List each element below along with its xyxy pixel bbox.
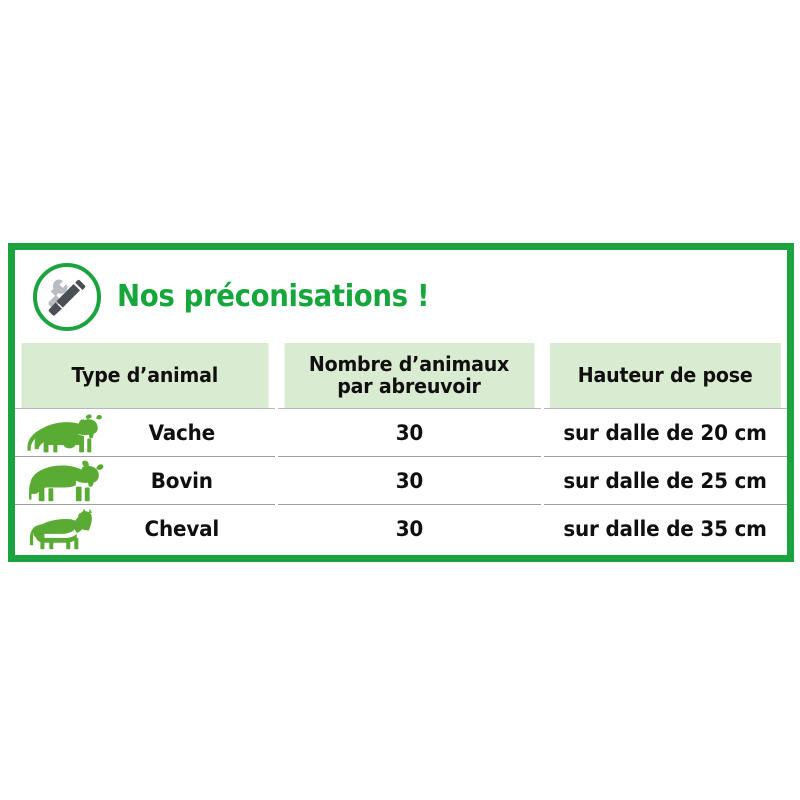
animal-type-label: Cheval: [21, 517, 268, 541]
animal-count-value: 30: [395, 469, 422, 493]
cell-animal-count: 30: [276, 505, 542, 553]
table-row: Vache 30 sur dalle de 20 cm: [15, 409, 787, 457]
column-header-hauteur-pose: Hauteur de pose: [548, 343, 781, 409]
cell-animal-type: Vache: [15, 409, 276, 457]
cell-animal-count: 30: [276, 409, 542, 457]
tools-wrench-screwdriver-icon: [33, 263, 101, 331]
page-root: Nos préconisations ! Type d’animal Nombr…: [0, 0, 800, 800]
tools-glyph: [44, 274, 90, 320]
mounting-height-value: sur dalle de 20 cm: [564, 421, 767, 445]
table-header-row: Type d’animal Nombre d’animaux par abreu…: [15, 343, 787, 409]
mounting-height-value: sur dalle de 25 cm: [564, 469, 767, 493]
cell-mounting-height: sur dalle de 20 cm: [542, 409, 787, 457]
cell-mounting-height: sur dalle de 25 cm: [542, 457, 787, 505]
cell-mounting-height: sur dalle de 35 cm: [542, 505, 787, 553]
mounting-height-value: sur dalle de 35 cm: [564, 517, 767, 541]
cell-animal-count: 30: [276, 457, 542, 505]
column-header-nombre-animaux: Nombre d’animaux par abreuvoir: [283, 343, 536, 409]
cell-animal-type: Cheval: [15, 505, 276, 553]
card-header: Nos préconisations !: [15, 250, 787, 343]
table-row: Bovin 30 sur dalle de 25 cm: [15, 457, 787, 505]
column-header-type-animal: Type d’animal: [22, 343, 270, 409]
animal-count-value: 30: [395, 517, 422, 541]
recommendations-table: Type d’animal Nombre d’animaux par abreu…: [15, 343, 787, 552]
table-row: Cheval 30 sur dalle de 35 cm: [15, 505, 787, 553]
recommendations-card: Nos préconisations ! Type d’animal Nombr…: [8, 243, 794, 562]
animal-type-label: Vache: [21, 421, 268, 445]
card-title: Nos préconisations !: [117, 279, 429, 314]
animal-count-value: 30: [395, 421, 422, 445]
table-header: Type d’animal Nombre d’animaux par abreu…: [15, 343, 787, 409]
animal-type-label: Bovin: [21, 469, 268, 493]
cell-animal-type: Bovin: [15, 457, 276, 505]
table-body: Vache 30 sur dalle de 20 cm: [15, 409, 787, 553]
